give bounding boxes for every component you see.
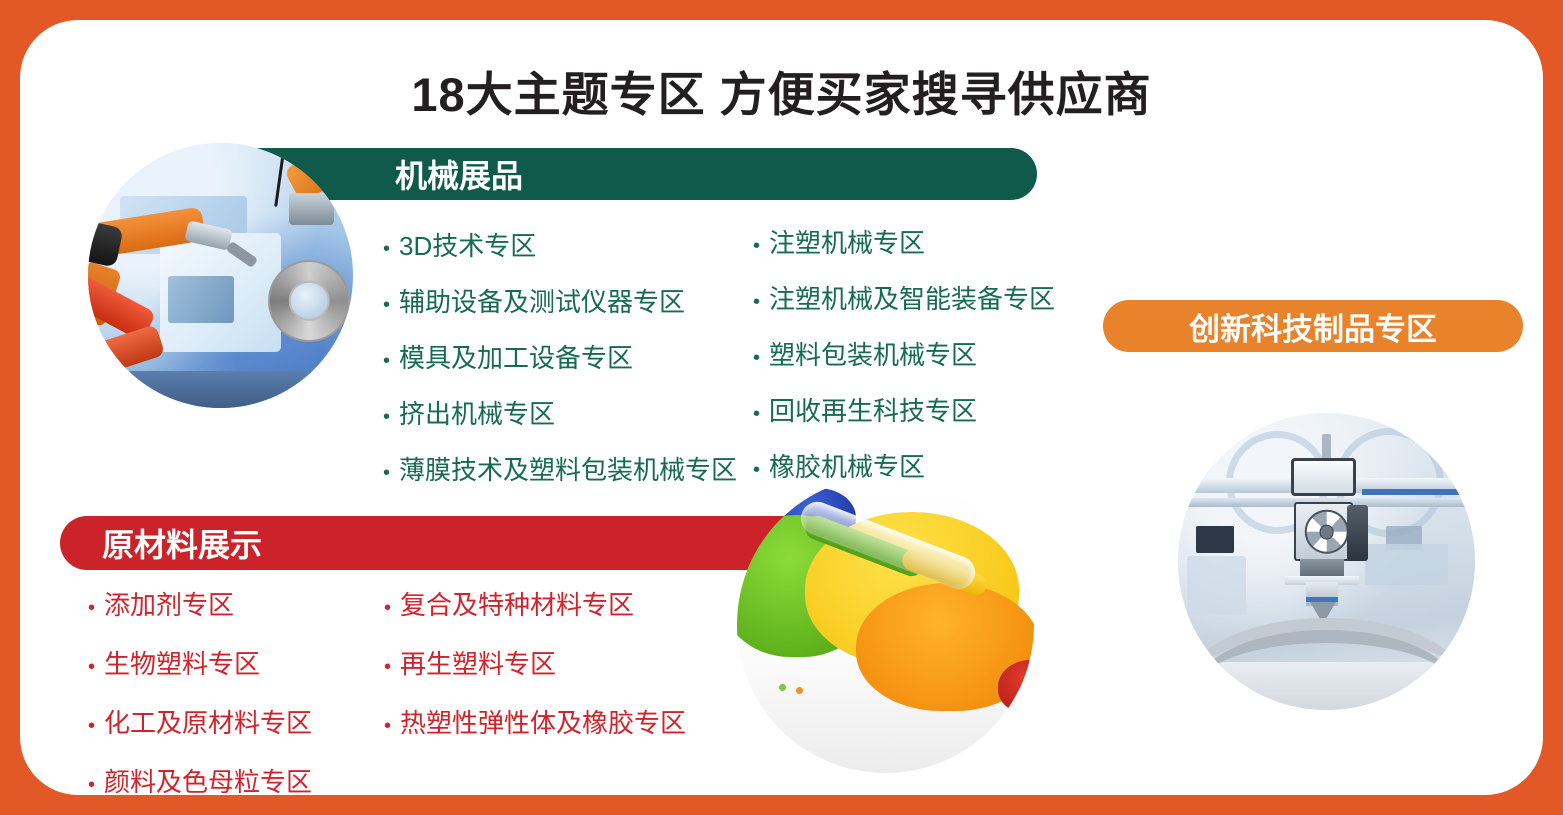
bullet-icon: •: [384, 598, 391, 618]
plastic-pellets-photo-image: [737, 476, 1034, 773]
printer-build-bed: [1211, 662, 1443, 710]
list-item-label: 薄膜技术及塑料包装机械专区: [399, 450, 737, 487]
machinery-list-right: •注塑机械专区 •注塑机械及智能装备专区 •塑料包装机械专区 •回收再生科技专区…: [753, 223, 1055, 503]
bearing-inner-ring: [289, 280, 330, 321]
bullet-icon: •: [88, 598, 95, 618]
3d-printer-photo-image: [1178, 413, 1475, 710]
list-item[interactable]: •注塑机械及智能装备专区: [753, 279, 1055, 316]
list-item-label: 复合及特种材料专区: [400, 585, 634, 622]
printer-rail-accent: [1362, 489, 1475, 495]
innovation-banner-label: 创新科技制品专区: [1189, 304, 1437, 349]
printer-head-carriage: [1291, 458, 1356, 497]
list-item-label: 塑料包装机械专区: [769, 335, 977, 372]
list-item[interactable]: •注塑机械专区: [753, 223, 1055, 260]
list-item[interactable]: •辅助设备及测试仪器专区: [383, 282, 737, 319]
machinery-banner-label: 机械展品: [395, 151, 523, 197]
list-item-label: 挤出机械专区: [399, 394, 555, 431]
background-cart: [1187, 556, 1246, 615]
poster-canvas: 18大主题专区 方便买家搜寻供应商 机械展品 •3D技术专区 •辅助设备及测试仪…: [0, 0, 1563, 815]
list-item[interactable]: •颜料及色母粒专区: [88, 762, 312, 795]
list-item[interactable]: •模具及加工设备专区: [383, 338, 737, 375]
background-shelf: [1365, 544, 1448, 586]
bullet-icon: •: [88, 775, 95, 795]
bullet-icon: •: [753, 292, 760, 312]
list-item-label: 添加剂专区: [104, 585, 234, 622]
list-item[interactable]: •回收再生科技专区: [753, 391, 1055, 428]
bullet-icon: •: [753, 404, 760, 424]
machinery-photo: [88, 143, 353, 408]
poster-panel: 18大主题专区 方便买家搜寻供应商 机械展品 •3D技术专区 •辅助设备及测试仪…: [20, 20, 1543, 795]
pellet-speck-green: [779, 684, 786, 691]
machine-floor: [88, 371, 353, 408]
list-item-label: 生物塑料专区: [104, 644, 260, 681]
printer-side-module: [1347, 505, 1368, 561]
list-item[interactable]: •复合及特种材料专区: [384, 585, 686, 622]
raw-materials-list-left: •添加剂专区 •生物塑料专区 •化工及原材料专区 •颜料及色母粒专区: [88, 585, 312, 795]
list-item-label: 注塑机械及智能装备专区: [769, 279, 1055, 316]
printer-fan-hub: [1319, 524, 1334, 539]
background-monitor-left: [1196, 526, 1235, 553]
bullet-icon: •: [383, 295, 390, 315]
list-item[interactable]: •3D技术专区: [383, 226, 737, 263]
list-item[interactable]: •薄膜技术及塑料包装机械专区: [383, 450, 737, 487]
bullet-icon: •: [383, 463, 390, 483]
list-item-label: 注塑机械专区: [769, 223, 925, 260]
bearing-ring: [268, 260, 350, 342]
bullet-icon: •: [384, 716, 391, 736]
list-item-label: 3D技术专区: [399, 226, 536, 263]
bullet-icon: •: [383, 351, 390, 371]
list-item[interactable]: •再生塑料专区: [384, 644, 686, 681]
raw-materials-list-right: •复合及特种材料专区 •再生塑料专区 •热塑性弹性体及橡胶专区: [384, 585, 686, 762]
printer-head-rod: [1322, 434, 1331, 461]
bullet-icon: •: [88, 716, 95, 736]
list-item[interactable]: •热塑性弹性体及橡胶专区: [384, 703, 686, 740]
page-title: 18大主题专区 方便买家搜寻供应商: [20, 56, 1543, 125]
bullet-icon: •: [384, 657, 391, 677]
list-item[interactable]: •生物塑料专区: [88, 644, 312, 681]
pellet-speck-orange: [796, 687, 803, 694]
list-item[interactable]: •化工及原材料专区: [88, 703, 312, 740]
list-item[interactable]: •挤出机械专区: [383, 394, 737, 431]
bullet-icon: •: [753, 236, 760, 256]
list-item-label: 颜料及色母粒专区: [104, 762, 312, 795]
bullet-icon: •: [753, 348, 760, 368]
machine-panel: [168, 276, 234, 324]
list-item-label: 回收再生科技专区: [769, 391, 977, 428]
innovation-section-banner: 创新科技制品专区: [1103, 300, 1523, 352]
bullet-icon: •: [88, 657, 95, 677]
machinery-list-left: •3D技术专区 •辅助设备及测试仪器专区 •模具及加工设备专区 •挤出机械专区 …: [383, 226, 737, 506]
list-item-label: 热塑性弹性体及橡胶专区: [400, 703, 686, 740]
plastic-pellets-photo: [737, 476, 1034, 773]
list-item[interactable]: •塑料包装机械专区: [753, 335, 1055, 372]
cable-icon: [274, 143, 287, 206]
list-item-label: 模具及加工设备专区: [399, 338, 633, 375]
raw-materials-banner-label: 原材料展示: [102, 520, 262, 566]
bullet-icon: •: [383, 239, 390, 259]
bullet-icon: •: [383, 407, 390, 427]
list-item-label: 化工及原材料专区: [104, 703, 312, 740]
machinery-photo-image: [88, 143, 353, 408]
list-item-label: 再生塑料专区: [400, 644, 556, 681]
list-item-label: 辅助设备及测试仪器专区: [399, 282, 685, 319]
3d-printer-photo: [1178, 413, 1475, 710]
robot-gripper: [289, 193, 334, 225]
list-item[interactable]: •添加剂专区: [88, 585, 312, 622]
